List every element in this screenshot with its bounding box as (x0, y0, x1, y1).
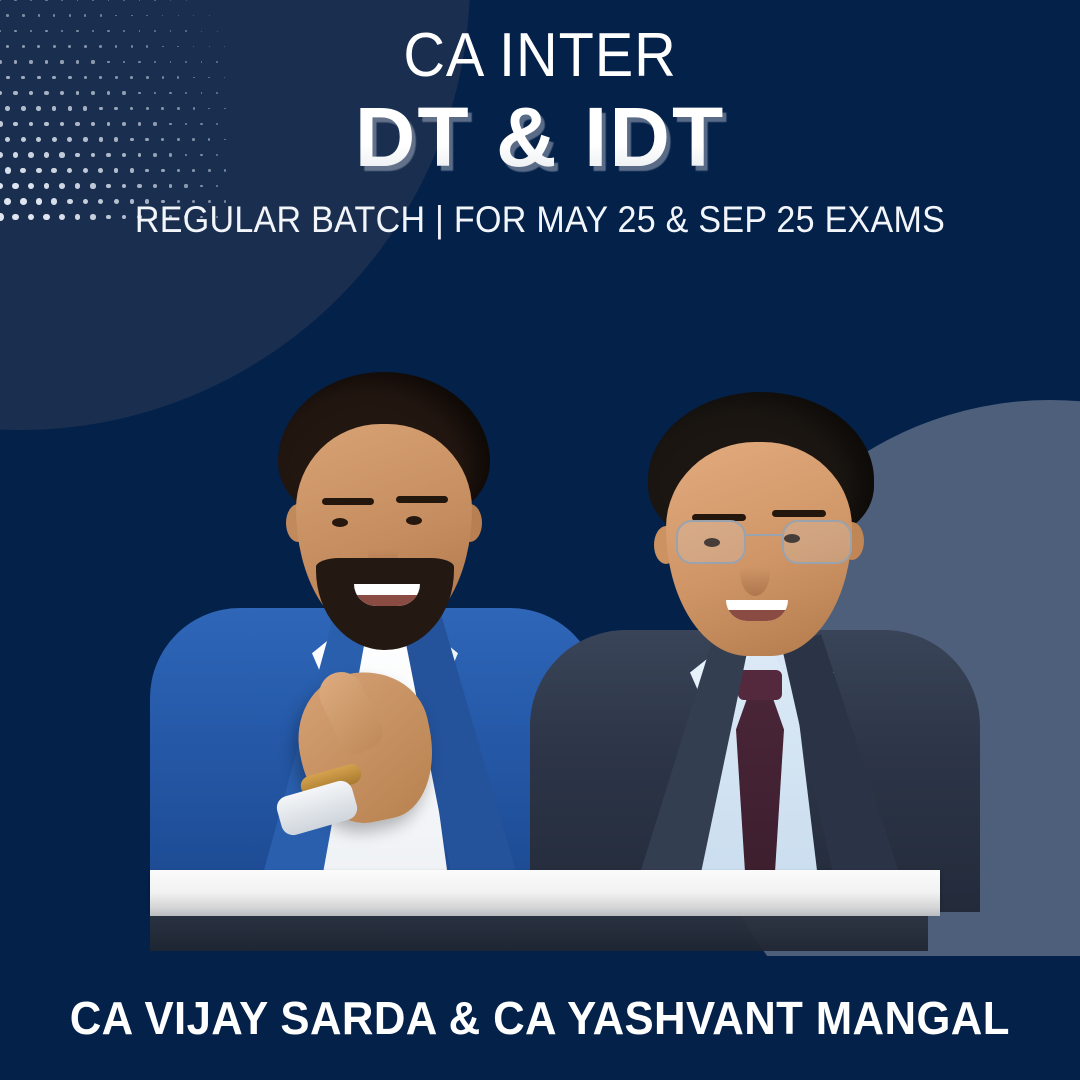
batch-and-exam-subline: REGULAR BATCH | FOR MAY 25 & SEP 25 EXAM… (43, 201, 1037, 240)
left-presenter-eye-right (406, 516, 422, 525)
left-presenter-brow-left (322, 498, 374, 505)
course-level-kicker: CA INTER (38, 24, 1042, 87)
faculty-name-band: CA VIJAY SARDA & CA YASHVANT MANGAL (0, 956, 1080, 1080)
right-presenter-mouth (726, 600, 788, 621)
glasses-bridge (746, 534, 782, 536)
right-presenter-brow-right (772, 510, 826, 517)
faculty-names: CA VIJAY SARDA & CA YASHVANT MANGAL (70, 991, 1010, 1045)
headline-block: CA INTER DT & IDT REGULAR BATCH | FOR MA… (0, 24, 1080, 240)
podium-lip (150, 906, 940, 916)
course-promo-poster: CA INTER DT & IDT REGULAR BATCH | FOR MA… (0, 0, 1080, 1080)
left-presenter-brow-right (396, 496, 448, 503)
glasses-lens-right (782, 520, 852, 564)
glasses-lens-left (676, 520, 746, 564)
left-presenter-mouth (354, 584, 420, 606)
podium-shelf (150, 870, 940, 910)
left-presenter-eye-left (332, 518, 348, 527)
right-presenter-tie-knot (738, 670, 782, 700)
glasses-icon (676, 520, 852, 568)
presenter-right-yashvant-mangal (540, 392, 970, 892)
page-title: DT & IDT (0, 95, 1080, 181)
